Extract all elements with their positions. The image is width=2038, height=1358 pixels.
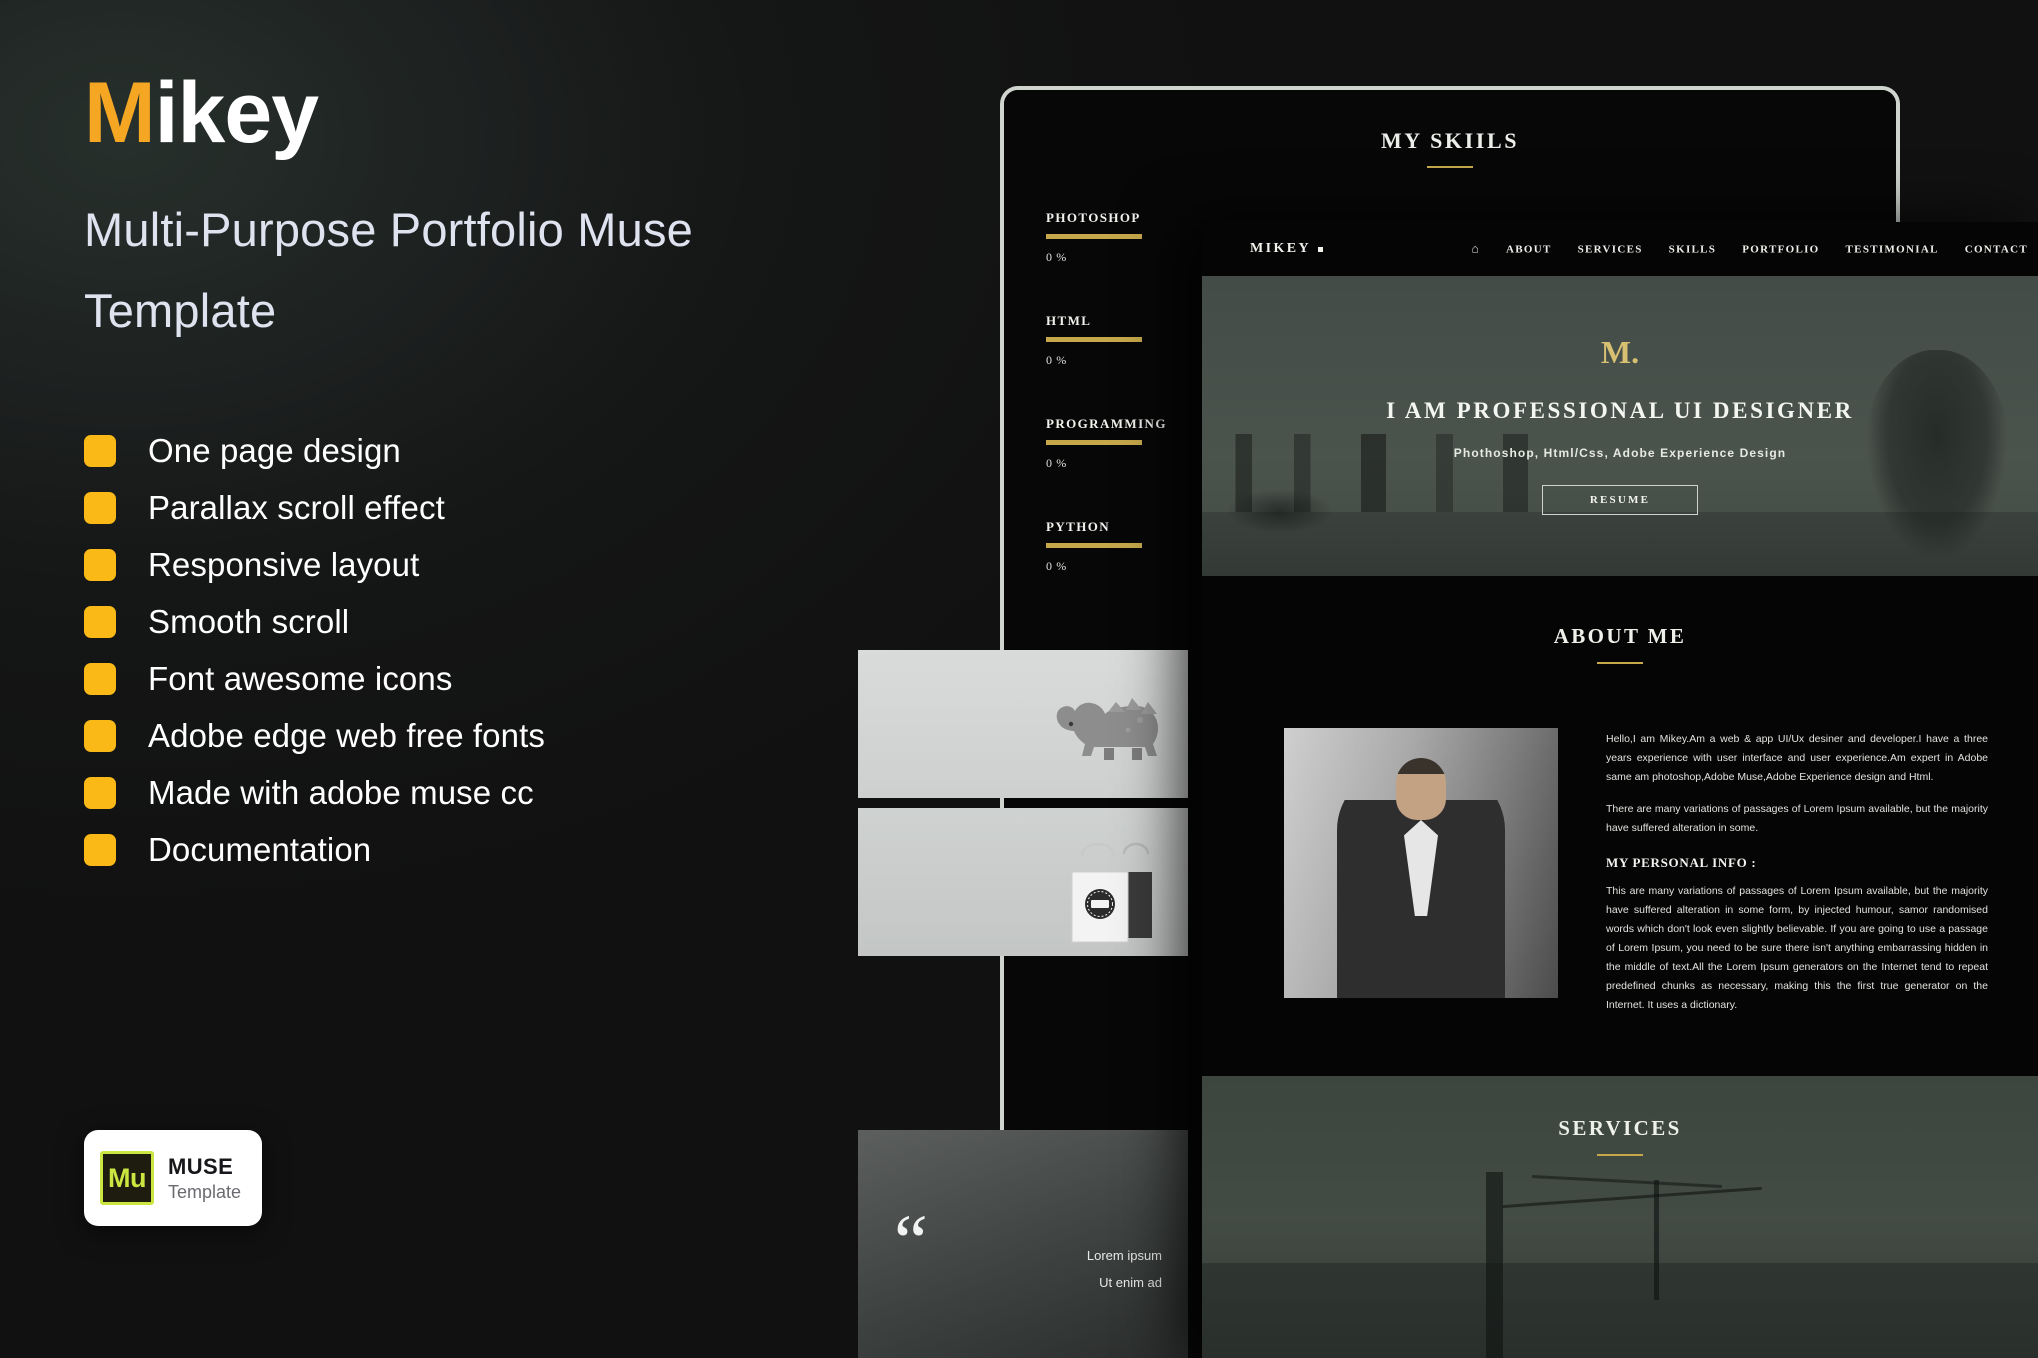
- about-columns: Hello,I am Mikey.Am a web & app UI/Ux de…: [1284, 728, 1988, 1028]
- bullet-square-icon: [84, 777, 116, 809]
- hero-monogram: M.: [1202, 334, 2038, 371]
- portfolio-tile-shopping-bag: [858, 808, 1188, 956]
- about-portrait-image: [1284, 728, 1558, 998]
- nav-item-testimonial[interactable]: TESTIMONIAL: [1846, 243, 1939, 255]
- feature-label: Smooth scroll: [148, 603, 349, 641]
- feature-label: Font awesome icons: [148, 660, 452, 698]
- dinosaur-icon: [1044, 688, 1164, 762]
- bullet-square-icon: [84, 435, 116, 467]
- brand-name-rest: ikey: [155, 65, 318, 161]
- personal-info-heading: MY PERSONAL INFO :: [1606, 855, 1988, 871]
- brand-initial: M: [84, 65, 155, 161]
- nav-item-services[interactable]: SERVICES: [1578, 243, 1643, 255]
- list-item: Documentation: [84, 823, 760, 878]
- front-browser-mockup: MIKEY ⌂ ABOUT SERVICES SKILLS PORTFOLIO …: [1202, 222, 2038, 1358]
- about-paragraph-3: This are many variations of passages of …: [1606, 882, 1988, 1016]
- resume-button[interactable]: RESUME: [1542, 485, 1698, 515]
- about-section: ABOUT ME Hello,I am Mikey.Am a web & app…: [1202, 576, 2038, 1076]
- nav-item-skills[interactable]: SKILLS: [1669, 243, 1717, 255]
- hero-headline: I AM PROFESSIONAL UI DESIGNER: [1202, 398, 2038, 424]
- brand-title: Mikey: [84, 70, 760, 156]
- hero-branch-silhouette: [1220, 480, 1420, 532]
- shopping-bag-icon: [1062, 842, 1154, 946]
- adobe-muse-icon-label: Mu: [108, 1165, 146, 1192]
- testimonial-line-2: Ut enim ad: [976, 1269, 1162, 1296]
- bullet-square-icon: [84, 834, 116, 866]
- feature-label: One page design: [148, 432, 401, 470]
- crane-mast-icon: [1654, 1180, 1659, 1300]
- list-item: Font awesome icons: [84, 652, 760, 707]
- testimonial-line-1: Lorem ipsum: [976, 1242, 1162, 1269]
- list-item: Adobe edge web free fonts: [84, 709, 760, 764]
- list-item: One page design: [84, 424, 760, 479]
- site-logo-label: MIKEY: [1250, 241, 1311, 257]
- bullet-square-icon: [84, 663, 116, 695]
- quote-mark-icon: “: [894, 1216, 928, 1269]
- nav-menu: ⌂ ABOUT SERVICES SKILLS PORTFOLIO TESTIM…: [1471, 242, 2028, 257]
- bullet-square-icon: [84, 606, 116, 638]
- skill-progress-bar: [1046, 234, 1142, 239]
- services-section: SERVICES: [1202, 1076, 2038, 1358]
- bullet-square-icon: [84, 549, 116, 581]
- skill-progress-bar: [1046, 440, 1142, 445]
- section-rule: [1427, 166, 1473, 168]
- feature-label: Responsive layout: [148, 546, 419, 584]
- about-section-title: ABOUT ME: [1202, 624, 2038, 649]
- testimonial-strip: “ Lorem ipsum Ut enim ad: [858, 1130, 1188, 1358]
- site-navbar: MIKEY ⌂ ABOUT SERVICES SKILLS PORTFOLIO …: [1202, 222, 2038, 276]
- feature-label: Parallax scroll effect: [148, 489, 445, 527]
- home-icon[interactable]: ⌂: [1471, 242, 1480, 257]
- skill-progress-bar: [1046, 543, 1142, 548]
- testimonial-text: Lorem ipsum Ut enim ad: [976, 1242, 1162, 1297]
- muse-badge-title: MUSE: [168, 1154, 241, 1179]
- section-rule: [1597, 1154, 1643, 1156]
- bullet-square-icon: [84, 720, 116, 752]
- services-background: [1202, 1172, 2038, 1358]
- feature-label: Documentation: [148, 831, 371, 869]
- nav-item-portfolio[interactable]: PORTFOLIO: [1742, 243, 1819, 255]
- hero-subtitle: Phothoshop, Html/Css, Adobe Experience D…: [1202, 446, 2038, 460]
- portrait-head: [1396, 758, 1446, 820]
- services-section-title: SERVICES: [1202, 1116, 2038, 1141]
- page-tagline: Multi-Purpose Portfolio Muse Template: [84, 190, 704, 352]
- skill-progress-bar: [1046, 337, 1142, 342]
- nav-item-contact[interactable]: CONTACT: [1965, 243, 2028, 255]
- about-paragraph-2: There are many variations of passages of…: [1606, 800, 1988, 838]
- portfolio-tiles: [858, 650, 1188, 956]
- logo-dot-icon: [1318, 247, 1323, 252]
- skills-section-title: MY SKIILS: [1004, 128, 1896, 154]
- muse-template-badge: Mu MUSE Template: [84, 1130, 262, 1226]
- muse-badge-subtitle: Template: [168, 1182, 241, 1203]
- about-paragraph-1: Hello,I am Mikey.Am a web & app UI/Ux de…: [1606, 730, 1988, 787]
- list-item: Parallax scroll effect: [84, 481, 760, 536]
- site-logo[interactable]: MIKEY: [1250, 241, 1323, 257]
- bullet-square-icon: [84, 492, 116, 524]
- hero-section: M. I AM PROFESSIONAL UI DESIGNER Phothos…: [1202, 276, 2038, 576]
- portfolio-tile-dinosaur: [858, 650, 1188, 798]
- section-rule: [1597, 662, 1643, 664]
- hero-person-silhouette: [1862, 350, 2012, 576]
- feature-label: Adobe edge web free fonts: [148, 717, 545, 755]
- mockup-stack: MY SKIILS PHOTOSHOP 0 % HTML 0 % PROGRAM…: [1000, 0, 2038, 1358]
- list-item: Made with adobe muse cc: [84, 766, 760, 821]
- feature-list: One page design Parallax scroll effect R…: [84, 424, 760, 878]
- adobe-muse-icon: Mu: [100, 1151, 154, 1205]
- list-item: Responsive layout: [84, 538, 760, 593]
- feature-label: Made with adobe muse cc: [148, 774, 534, 812]
- list-item: Smooth scroll: [84, 595, 760, 650]
- muse-badge-text: MUSE Template: [168, 1154, 241, 1203]
- nav-item-about[interactable]: ABOUT: [1506, 243, 1552, 255]
- about-copy: Hello,I am Mikey.Am a web & app UI/Ux de…: [1606, 728, 1988, 1028]
